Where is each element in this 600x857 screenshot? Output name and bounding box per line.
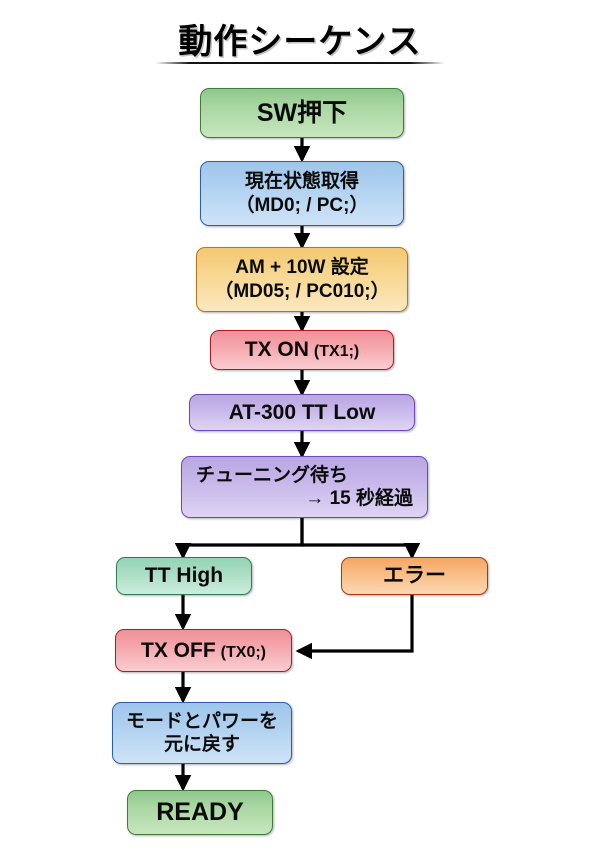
node-ready[interactable]: READY [127, 790, 273, 835]
node-set-am-10w-command: （MD05; / PC010;） [214, 280, 389, 303]
node-get-current-state[interactable]: 現在状態取得 （MD0; / PC;） [200, 161, 404, 226]
node-tx-off[interactable]: TX OFF (TX0;) [115, 629, 292, 672]
page-title: 動作シーケンス [0, 14, 600, 63]
node-tx-on-row: TX ON (TX1;) [245, 337, 360, 363]
node-tx-on-command: (TX1;) [314, 342, 359, 362]
node-tx-on[interactable]: TX ON (TX1;) [210, 330, 394, 370]
node-at300-tt-low-label: AT-300 TT Low [229, 400, 376, 426]
node-get-current-state-command: （MD0; / PC;） [235, 194, 368, 217]
node-error-label: エラー [383, 563, 446, 589]
node-restore-mode-power[interactable]: モードとパワーを 元に戻す [112, 702, 292, 764]
flowchart-diagram: 動作シーケンス [0, 0, 600, 857]
node-set-am-10w-label: AM + 10W 設定 [235, 256, 369, 279]
node-tuning-wait[interactable]: チューニング待ち → 15 秒経過 [181, 456, 428, 518]
node-sw-press-label: SW押下 [257, 98, 347, 129]
node-sw-press[interactable]: SW押下 [200, 88, 404, 138]
node-error[interactable]: エラー [341, 557, 488, 595]
node-tuning-wait-label: チューニング待ち [196, 464, 413, 487]
node-set-am-10w[interactable]: AM + 10W 設定 （MD05; / PC010;） [196, 247, 408, 312]
node-get-current-state-label: 現在状態取得 [245, 170, 359, 193]
node-restore-mode-power-line1: モードとパワーを [126, 710, 278, 733]
node-tx-off-command: (TX0;) [221, 643, 266, 663]
title-divider [155, 62, 445, 64]
node-at300-tt-low[interactable]: AT-300 TT Low [189, 394, 415, 431]
node-tt-high-label: TT High [145, 563, 223, 589]
node-tuning-wait-elapsed: → 15 秒経過 [196, 487, 413, 510]
node-tx-on-label: TX ON [245, 337, 309, 363]
node-restore-mode-power-line2: 元に戻す [164, 733, 240, 756]
node-tx-off-label: TX OFF [141, 638, 216, 664]
node-ready-label: READY [156, 797, 244, 828]
node-tt-high[interactable]: TT High [116, 557, 252, 595]
node-tx-off-row: TX OFF (TX0;) [141, 638, 266, 664]
